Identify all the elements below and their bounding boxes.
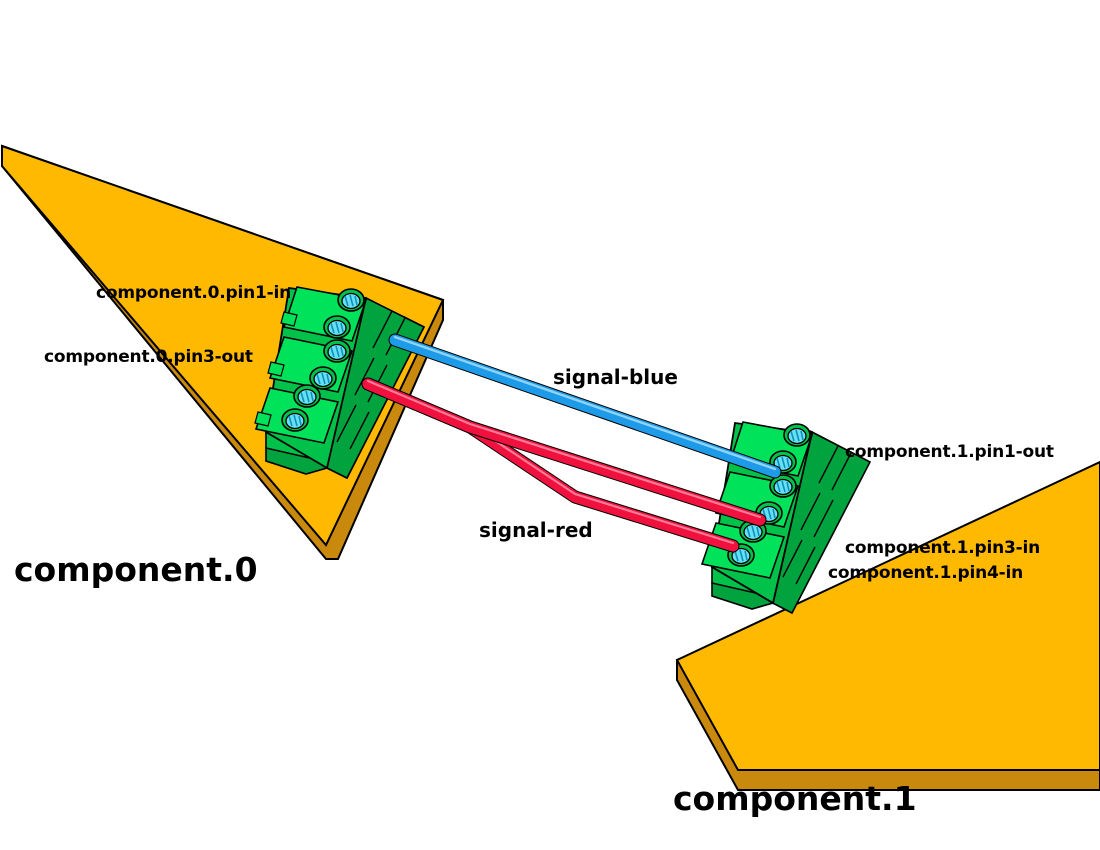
label-component1-pin3-in: component.1.pin3-in [845,538,1040,558]
label-component1-pin4-in: component.1.pin4-in [828,563,1023,583]
label-signal-blue: signal-blue [553,365,678,389]
title-component-0: component.0 [14,550,258,589]
label-component1-pin1-out: component.1.pin1-out [845,442,1054,462]
wiring-diagram-canvas: component.0.pin1-in component.0.pin3-out… [0,0,1100,850]
label-signal-red: signal-red [479,518,593,542]
title-component-1: component.1 [673,779,917,818]
label-component0-pin1-in: component.0.pin1-in [96,283,291,303]
wire-signal-blue[interactable] [395,337,775,472]
signal-wires[interactable] [0,0,1100,850]
label-component0-pin3-out: component.0.pin3-out [44,347,253,367]
